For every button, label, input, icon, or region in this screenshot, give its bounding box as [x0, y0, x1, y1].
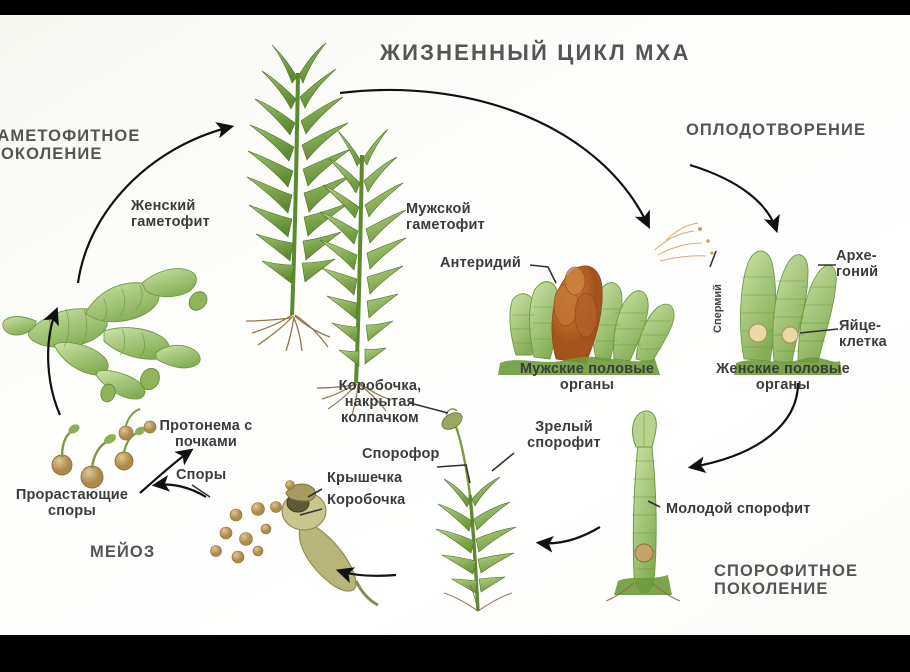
female-gametophyte-label: Женский гаметофит [131, 198, 210, 230]
sporophore-label: Спорофор [362, 446, 440, 462]
female-sex-organs-illustration [734, 251, 842, 375]
male-gametophyte-label: Мужской гаметофит [406, 201, 485, 233]
moss-life-cycle-diagram: ЖИЗНЕННЫЙ ЦИКЛ МХА ГАМЕТОФИТНОЕ ПОКОЛЕНИ… [0, 15, 910, 635]
mature-sporophyte-illustration [436, 409, 516, 611]
male-gametophyte-illustration [317, 129, 406, 415]
egg-cell-label: Яйце- клетка [839, 318, 887, 350]
diagram-artwork [0, 15, 910, 635]
arrow-to-spores [156, 485, 206, 498]
young-sporophyte-label: Молодой спорофит [666, 501, 811, 517]
page-title: ЖИЗНЕННЫЙ ЦИКЛ МХА [380, 41, 691, 66]
mature-sporophyte-label: Зрелый спорофит [505, 419, 623, 451]
screenshot-stage: ЖИЗНЕННЫЙ ЦИКЛ МХА ГАМЕТОФИТНОЕ ПОКОЛЕНИ… [0, 0, 910, 672]
fertilization-label: ОПЛОДОТВОРЕНИЕ [686, 121, 866, 139]
male-sex-organs-illustration [498, 223, 714, 375]
protonema-label: Протонема с почками [136, 418, 276, 450]
spores-label: Споры [176, 467, 226, 483]
capsule-label: Коробочка [327, 492, 405, 508]
male-organs-label: Мужские половые органы [502, 361, 672, 393]
arrow-to-archegonium [690, 165, 776, 229]
sperm-label: Спермий [712, 284, 724, 333]
female-organs-label: Женские половые органы [700, 361, 866, 393]
arrow-to-young-sporophyte [692, 383, 798, 467]
germinating-spores-label: Прорастающие споры [2, 487, 142, 519]
antheridium-label: Антеридий [440, 255, 521, 271]
arrow-fertilization [340, 90, 648, 225]
sporophyte-generation-label: СПОРОФИТНОЕ ПОКОЛЕНИЕ [714, 562, 858, 599]
capsule-with-calyptra-label: Коробочка, накрытая колпачком [324, 378, 436, 427]
operculum-label: Крышечка [327, 470, 402, 486]
meiosis-label: МЕЙОЗ [90, 543, 155, 561]
protonema-illustration [3, 269, 211, 440]
leader-mature-sporophyte [492, 453, 514, 471]
gametophyte-generation-label: ГАМЕТОФИТНОЕ ПОКОЛЕНИЕ [0, 127, 140, 164]
arrow-to-mature-sporophyte [540, 527, 600, 543]
archegonium-label: Архе- гоний [836, 248, 878, 280]
leader-antheridium [530, 265, 556, 283]
